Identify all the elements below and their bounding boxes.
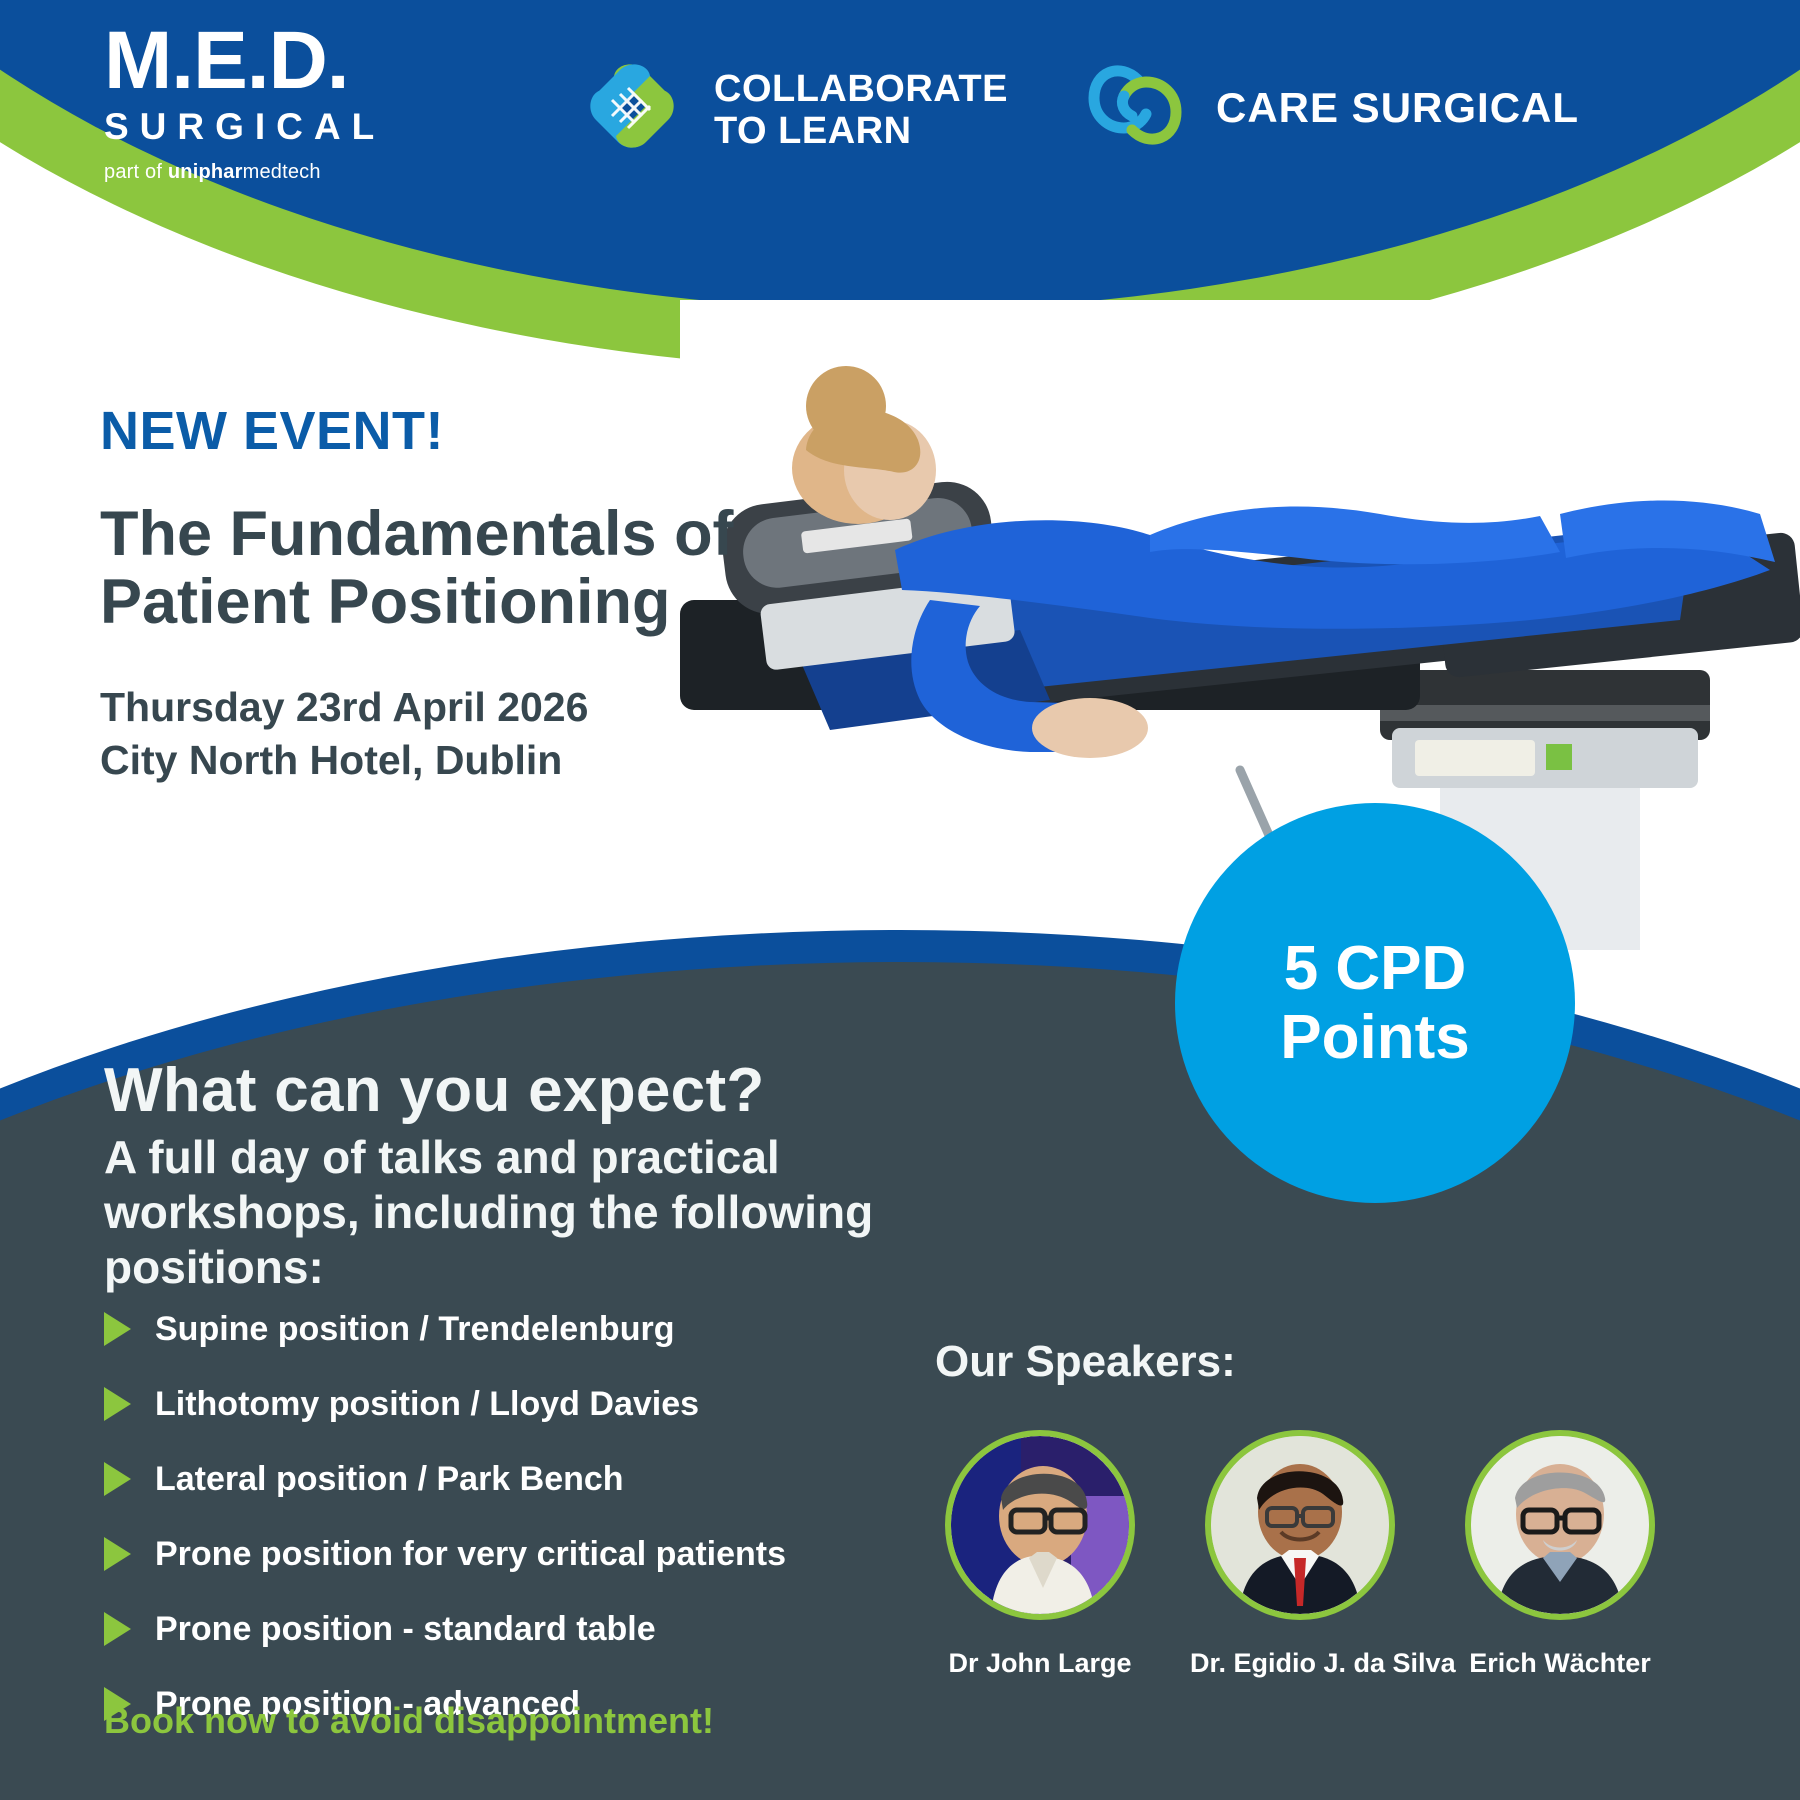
list-item-label: Prone position - standard table (155, 1610, 656, 1649)
list-item-label: Lithotomy position / Lloyd Davies (155, 1385, 699, 1424)
cpd-line-2: Points (1280, 1003, 1469, 1072)
cpd-badge-label: 5 CPD Points (1280, 934, 1469, 1073)
speakers-heading: Our Speakers: (935, 1337, 1236, 1387)
triangle-bullet-icon (104, 1462, 131, 1496)
speaker-card: Dr John Large (930, 1430, 1150, 1679)
triangle-bullet-icon (104, 1612, 131, 1646)
list-item-label: Prone position for very critical patient… (155, 1535, 786, 1574)
positions-list: Supine position / Trendelenburg Lithotom… (104, 1300, 904, 1750)
speakers-list: Dr John Large (930, 1430, 1670, 1679)
list-item-label: Supine position / Trendelenburg (155, 1310, 674, 1349)
list-item: Lithotomy position / Lloyd Davies (104, 1375, 904, 1433)
list-item: Lateral position / Park Bench (104, 1450, 904, 1508)
cpd-badge: 5 CPD Points (1175, 803, 1575, 1203)
avatar (1205, 1430, 1395, 1620)
speaker-card: Dr. Egidio J. da Silva (1190, 1430, 1410, 1679)
list-item: Prone position - standard table (104, 1600, 904, 1658)
avatar (1465, 1430, 1655, 1620)
triangle-bullet-icon (104, 1387, 131, 1421)
expectations-heading: What can you expect? (104, 1055, 765, 1126)
cta-text: Book now to avoid disappointment! (104, 1700, 714, 1742)
avatar (945, 1430, 1135, 1620)
flyer-canvas: M.E.D. SURGICAL part of unipharmedtech (0, 0, 1800, 1800)
speaker-card: Erich Wächter (1450, 1430, 1670, 1679)
speaker-name: Dr. Egidio J. da Silva (1190, 1648, 1410, 1679)
speaker-name: Erich Wächter (1450, 1648, 1670, 1679)
expectations-body: A full day of talks and practical worksh… (104, 1130, 904, 1296)
cpd-line-1: 5 CPD (1284, 934, 1467, 1003)
list-item: Prone position for very critical patient… (104, 1525, 904, 1583)
list-item-label: Lateral position / Park Bench (155, 1460, 624, 1499)
list-item: Supine position / Trendelenburg (104, 1300, 904, 1358)
speaker-name: Dr John Large (930, 1648, 1150, 1679)
triangle-bullet-icon (104, 1312, 131, 1346)
triangle-bullet-icon (104, 1537, 131, 1571)
